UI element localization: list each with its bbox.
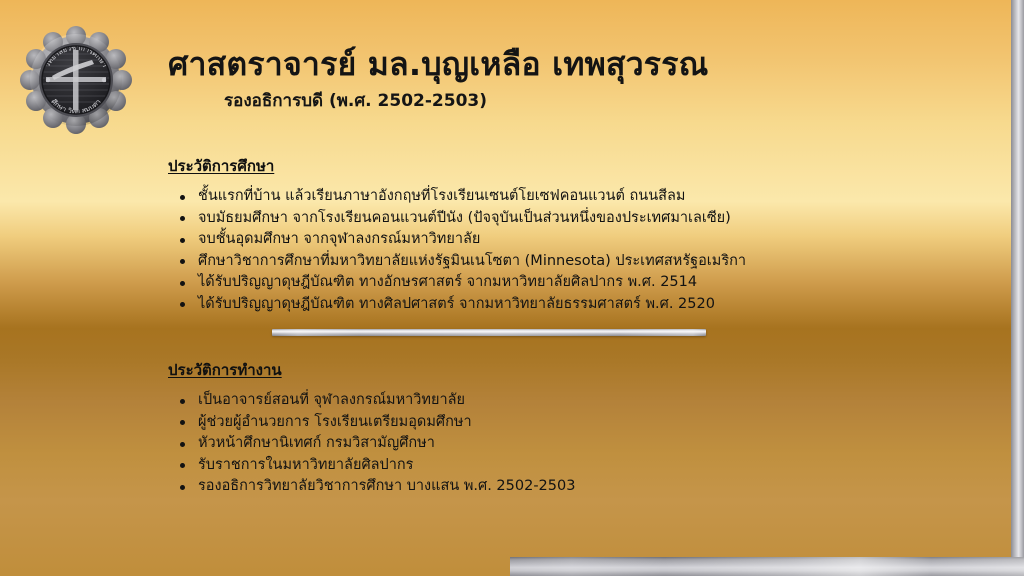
- list-item-text: หัวหน้าศึกษานิเทศก์ กรมวิสามัญศึกษา: [198, 435, 435, 451]
- list-item: ชั้นแรกที่บ้าน แล้วเรียนภาษาอังกฤษที่โรง…: [168, 186, 908, 208]
- slide-content: วิทยาลัยวิชาการศึกษา ศึกษา วิทย สมบตา ศา…: [0, 0, 1024, 576]
- list-item: ผู้ช่วยผู้อำนวยการ โรงเรียนเตรียมอุดมศึก…: [168, 412, 908, 434]
- bullet-dot-icon: [180, 485, 185, 490]
- bottom-metal-bar: [510, 557, 1024, 576]
- section-work-history: ประวัติการทำงาน เป็นอาจารย์สอนที่ จุฬาลง…: [168, 358, 908, 498]
- list-item: รับราชการในมหาวิทยาลัยศิลปากร: [168, 455, 908, 477]
- page-subtitle: รองอธิการบดี (พ.ศ. 2502-2503): [224, 90, 808, 112]
- education-bullet-list: ชั้นแรกที่บ้าน แล้วเรียนภาษาอังกฤษที่โรง…: [168, 186, 908, 315]
- page-title: ศาสตราจารย์ มล.บุญเหลือ เทพสุวรรณ: [168, 44, 808, 84]
- list-item-text: ชั้นแรกที่บ้าน แล้วเรียนภาษาอังกฤษที่โรง…: [198, 188, 685, 204]
- list-item-text: จบมัธยมศึกษา จากโรงเรียนคอนแวนต์ปีนัง (ป…: [198, 210, 731, 226]
- list-item-text: ผู้ช่วยผู้อำนวยการ โรงเรียนเตรียมอุดมศึก…: [198, 414, 472, 430]
- list-item: จบชั้นอุดมศึกษา จากจุฬาลงกรณ์มหาวิทยาลัย: [168, 229, 908, 251]
- list-item-text: ได้รับปริญญาดุษฎีบัณฑิต ทางศิลปศาสตร์ จา…: [198, 296, 715, 312]
- bullet-dot-icon: [180, 420, 185, 425]
- list-item: หัวหน้าศึกษานิเทศก์ กรมวิสามัญศึกษา: [168, 433, 908, 455]
- slide-canvas: วิทยาลัยวิชาการศึกษา ศึกษา วิทย สมบตา ศา…: [0, 0, 1024, 576]
- section-divider: [272, 329, 706, 336]
- section-education-history: ประวัติการศึกษา ชั้นแรกที่บ้าน แล้วเรียน…: [168, 154, 908, 315]
- university-seal-logo: วิทยาลัยวิชาการศึกษา ศึกษา วิทย สมบตา: [18, 24, 134, 136]
- list-item: ได้รับปริญญาดุษฎีบัณฑิต ทางศิลปศาสตร์ จา…: [168, 294, 908, 316]
- work-bullet-list: เป็นอาจารย์สอนที่ จุฬาลงกรณ์มหาวิทยาลัย …: [168, 390, 908, 498]
- bullet-dot-icon: [180, 238, 185, 243]
- bullet-dot-icon: [180, 281, 185, 286]
- slide-header: ศาสตราจารย์ มล.บุญเหลือ เทพสุวรรณ รองอธิ…: [168, 44, 808, 112]
- bullet-dot-icon: [180, 399, 185, 404]
- bullet-dot-icon: [180, 442, 185, 447]
- section-heading-education: ประวัติการศึกษา: [168, 154, 274, 178]
- right-metal-edge: [1011, 0, 1024, 576]
- list-item-text: เป็นอาจารย์สอนที่ จุฬาลงกรณ์มหาวิทยาลัย: [198, 392, 465, 408]
- list-item-text: ศึกษาวิชาการศึกษาที่มหาวิทยาลัยแห่งรัฐมิ…: [198, 253, 746, 269]
- list-item: รองอธิการวิทยาลัยวิชาการศึกษา บางแสน พ.ศ…: [168, 476, 908, 498]
- list-item: เป็นอาจารย์สอนที่ จุฬาลงกรณ์มหาวิทยาลัย: [168, 390, 908, 412]
- list-item-text: จบชั้นอุดมศึกษา จากจุฬาลงกรณ์มหาวิทยาลัย: [198, 231, 480, 247]
- list-item-text: รับราชการในมหาวิทยาลัยศิลปากร: [198, 457, 413, 473]
- section-heading-work: ประวัติการทำงาน: [168, 358, 282, 382]
- bullet-dot-icon: [180, 463, 185, 468]
- bullet-dot-icon: [180, 216, 185, 221]
- list-item-text: ได้รับปริญญาดุษฎีบัณฑิต ทางอักษรศาสตร์ จ…: [198, 274, 697, 290]
- bullet-dot-icon: [180, 195, 185, 200]
- list-item: ศึกษาวิชาการศึกษาที่มหาวิทยาลัยแห่งรัฐมิ…: [168, 251, 908, 273]
- bullet-dot-icon: [180, 302, 185, 307]
- list-item: จบมัธยมศึกษา จากโรงเรียนคอนแวนต์ปีนัง (ป…: [168, 208, 908, 230]
- list-item: ได้รับปริญญาดุษฎีบัณฑิต ทางอักษรศาสตร์ จ…: [168, 272, 908, 294]
- bullet-dot-icon: [180, 259, 185, 264]
- list-item-text: รองอธิการวิทยาลัยวิชาการศึกษา บางแสน พ.ศ…: [198, 478, 575, 494]
